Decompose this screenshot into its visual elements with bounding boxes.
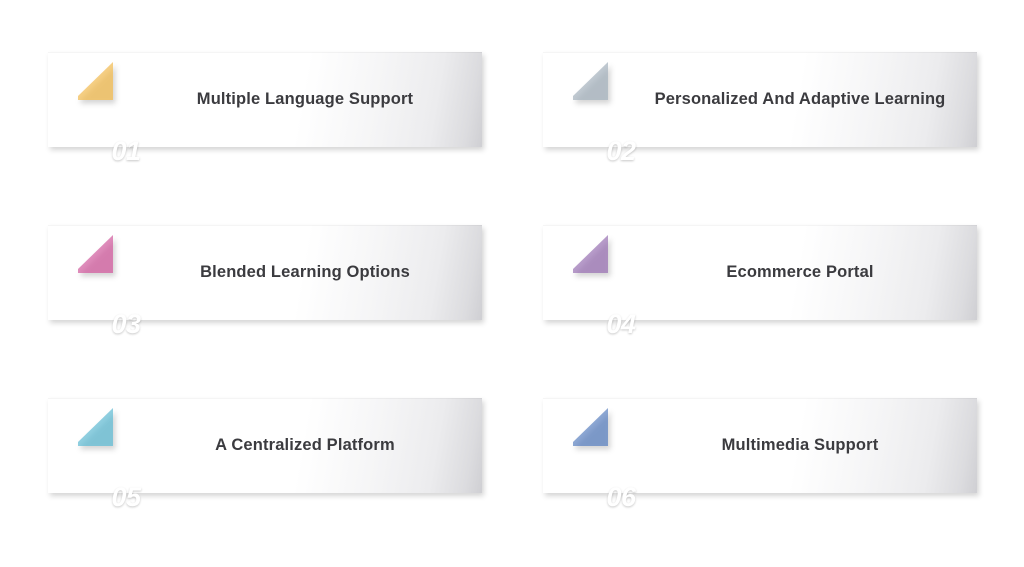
feature-card-06[interactable]: Multimedia Support — [535, 398, 975, 543]
feature-card-title: Multiple Language Support — [145, 52, 465, 147]
feature-card-title: Multimedia Support — [640, 398, 960, 493]
feature-card-title: A Centralized Platform — [145, 398, 465, 493]
feature-card-05[interactable]: A Centralized Platform — [40, 398, 480, 543]
feature-card-title: Ecommerce Portal — [640, 225, 960, 320]
feature-card-02[interactable]: Personalized And Adaptive Learning — [535, 52, 975, 197]
feature-card-04[interactable]: Ecommerce Portal — [535, 225, 975, 370]
infographic-canvas: Multiple Language Support — [0, 0, 1024, 567]
feature-card-03[interactable]: Blended Learning Options — [40, 225, 480, 370]
feature-card-title: Blended Learning Options — [145, 225, 465, 320]
feature-card-title: Personalized And Adaptive Learning — [640, 52, 960, 147]
feature-card-01[interactable]: Multiple Language Support — [40, 52, 480, 197]
